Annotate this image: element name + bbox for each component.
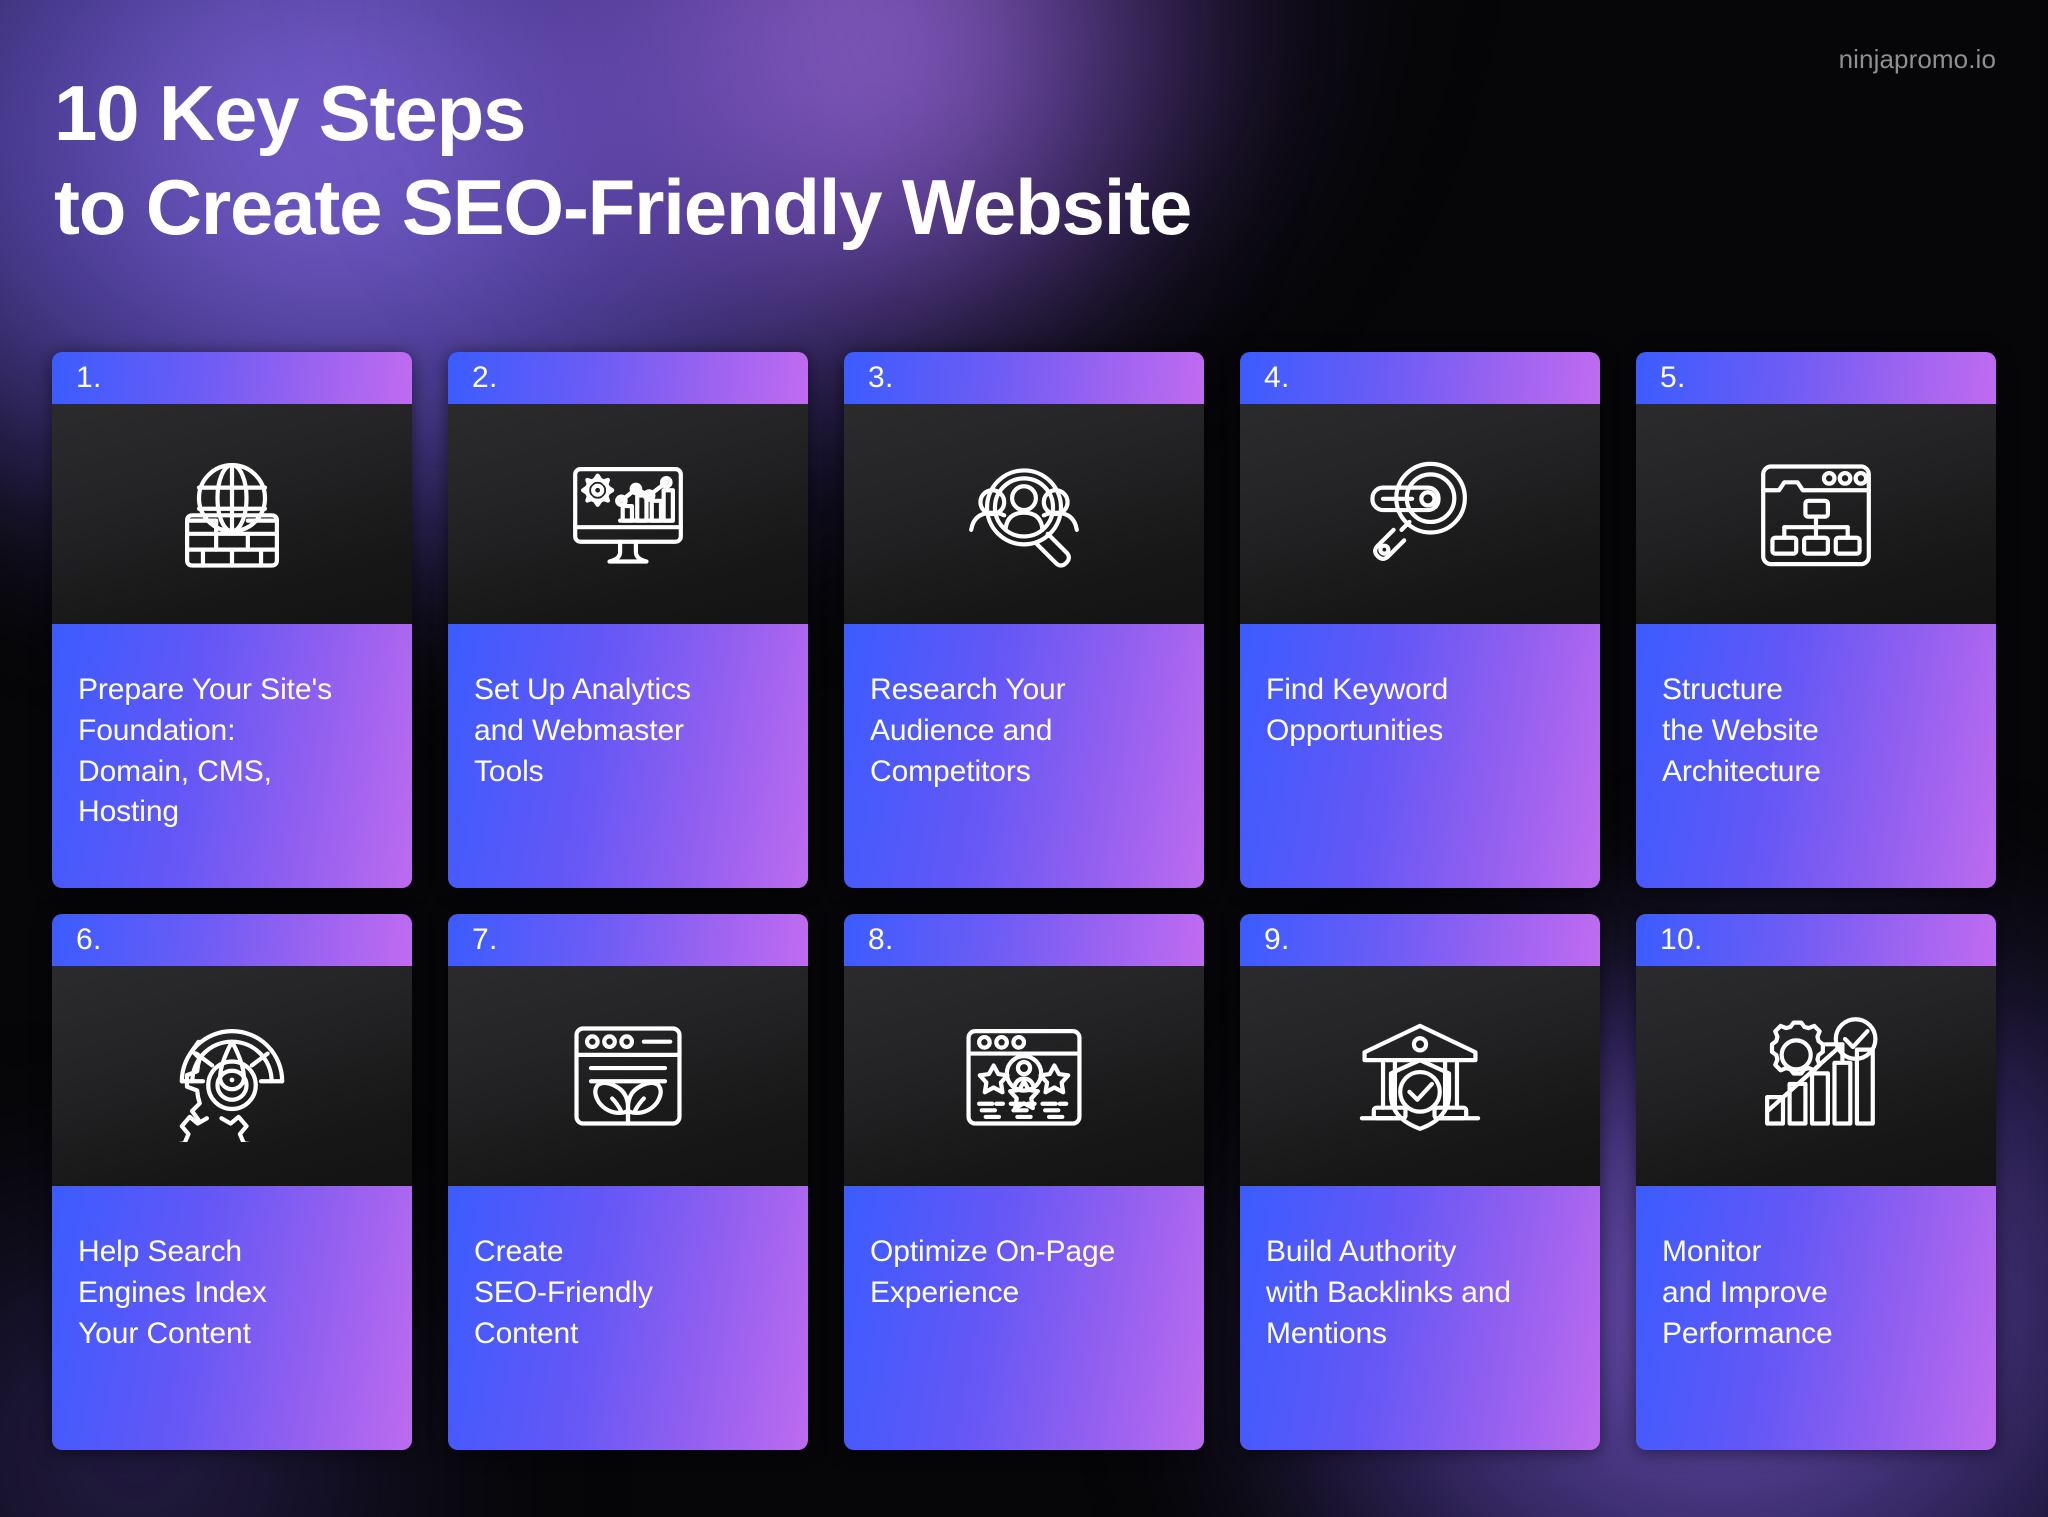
step-card-6-header: 6. [52,914,412,966]
step-label: Structure the Website Architecture [1662,670,1970,792]
page-header: ninjapromo.io 10 Key Steps to Create SEO… [0,0,2048,300]
step-card-4-body: Find Keyword Opportunities [1240,624,1600,888]
step-number: 5. [1660,361,1686,395]
step-card-1-body: Prepare Your Site's Foundation: Domain, … [52,624,412,888]
step-label: Build Authority with Backlinks and Menti… [1266,1232,1574,1354]
step-card-6-body: Help Search Engines Index Your Content [52,1186,412,1450]
step-card-3-header: 3. [844,352,1204,404]
brand-logo-text: ninjapromo.io [1839,44,1996,75]
step-card-9-body: Build Authority with Backlinks and Menti… [1240,1186,1600,1450]
bank-building-shield-check-icon [1240,966,1600,1186]
steps-grid: 1. [52,352,1998,1450]
step-card-3[interactable]: 3. Research Your Audience and Competitor… [844,352,1204,888]
browser-sitemap-hierarchy-icon [1636,404,1996,624]
step-card-6[interactable]: 6. Help Search [52,914,412,1450]
step-card-4[interactable]: 4. Find Keyword Opportunities [1240,352,1600,888]
step-number: 10. [1660,923,1703,957]
step-label: Set Up Analytics and Webmaster Tools [474,670,782,792]
browser-user-star-rating-icon [844,966,1204,1186]
step-card-8-body: Optimize On-Page Experience [844,1186,1204,1450]
step-card-7-header: 7. [448,914,808,966]
step-card-2-body: Set Up Analytics and Webmaster Tools [448,624,808,888]
step-number: 1. [76,361,102,395]
step-number: 4. [1264,361,1290,395]
step-label: Prepare Your Site's Foundation: Domain, … [78,670,386,833]
step-card-4-header: 4. [1240,352,1600,404]
step-label: Research Your Audience and Competitors [870,670,1178,792]
monitor-analytics-dashboard-icon [448,404,808,624]
step-card-9[interactable]: 9. Build Autho [1240,914,1600,1450]
step-card-1[interactable]: 1. [52,352,412,888]
step-card-5-header: 5. [1636,352,1996,404]
globe-on-brick-wall-icon [52,404,412,624]
step-number: 7. [472,923,498,957]
step-number: 6. [76,923,102,957]
step-number: 8. [868,923,894,957]
step-label: Help Search Engines Index Your Content [78,1232,386,1354]
step-number: 2. [472,361,498,395]
step-card-8[interactable]: 8. [844,914,1204,1450]
step-card-10-header: 10. [1636,914,1996,966]
step-label: Create SEO-Friendly Content [474,1232,782,1354]
step-card-10[interactable]: 10. Monitor and Improve P [1636,914,1996,1450]
step-label: Monitor and Improve Performance [1662,1232,1970,1354]
page-title: 10 Key Steps to Create SEO-Friendly Webs… [54,66,1191,255]
step-card-5[interactable]: 5. [1636,352,1996,888]
magnifier-audience-people-icon [844,404,1204,624]
step-card-1-header: 1. [52,352,412,404]
step-number: 9. [1264,923,1290,957]
step-card-5-body: Structure the Website Architecture [1636,624,1996,888]
step-card-3-body: Research Your Audience and Competitors [844,624,1204,888]
step-label: Optimize On-Page Experience [870,1232,1178,1314]
step-card-2-header: 2. [448,352,808,404]
browser-growing-leaves-icon [448,966,808,1186]
gear-growth-bar-chart-check-icon [1636,966,1996,1186]
step-card-2[interactable]: 2. [448,352,808,888]
infographic-canvas: ninjapromo.io 10 Key Steps to Create SEO… [0,0,2048,1517]
step-number: 3. [868,361,894,395]
step-card-9-header: 9. [1240,914,1600,966]
magnifier-search-bar-icon [1240,404,1600,624]
step-label: Find Keyword Opportunities [1266,670,1574,752]
step-card-8-header: 8. [844,914,1204,966]
step-card-7-body: Create SEO-Friendly Content [448,1186,808,1450]
step-card-7[interactable]: 7. Create SEO- [448,914,808,1450]
speedometer-gear-icon [52,966,412,1186]
step-card-10-body: Monitor and Improve Performance [1636,1186,1996,1450]
